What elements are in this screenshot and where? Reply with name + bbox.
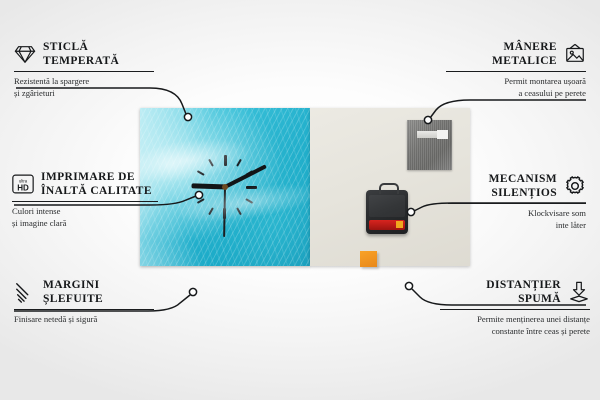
- clock-tick: [224, 155, 226, 219]
- clock-tick: [197, 170, 253, 204]
- feature-margini-slefuite: MARGINIȘLEFUITE Finisare netedă și sigur…: [14, 278, 154, 326]
- clock-tick: [224, 155, 226, 219]
- clock-hour-hand: [191, 183, 225, 189]
- feature-title: DISTANȚIERSPUMĂ: [486, 278, 561, 306]
- gear-icon: [564, 175, 586, 197]
- orange-foam-spacer: [360, 251, 377, 267]
- feature-title: IMPRIMARE DEÎNALTĂ CALITATE: [41, 170, 152, 198]
- feature-description: Rezistentă la spargereși zgârieturi: [14, 76, 154, 99]
- feature-title: MÂNEREMETALICE: [492, 40, 557, 68]
- feature-imprimare-hd: ultra HD IMPRIMARE DEÎNALTĂ CALITATE Cul…: [12, 170, 158, 229]
- clock-dial: [140, 108, 310, 266]
- metal-hanger-swatch: [407, 120, 452, 170]
- feature-description: Permit montarea ușoarăa ceasului pe pere…: [446, 76, 586, 99]
- feature-title: MARGINIȘLEFUITE: [43, 278, 103, 306]
- feature-manere-metalice: MÂNEREMETALICE Permit montarea ușoarăa c…: [446, 40, 586, 99]
- clock-tick: [197, 170, 253, 204]
- clock-tick: [208, 159, 242, 215]
- feature-description: Culori intenseși imagine clară: [12, 206, 158, 229]
- feature-sticla-temperata: STICLĂTEMPERATĂ Rezistentă la spargereși…: [14, 40, 154, 99]
- polished-edges-icon: [14, 281, 36, 303]
- infographic-canvas: STICLĂTEMPERATĂ Rezistentă la spargereși…: [0, 0, 600, 400]
- clock-face-feather-print: [140, 108, 310, 266]
- feature-title: STICLĂTEMPERATĂ: [43, 40, 119, 68]
- clock-tick: [208, 159, 242, 215]
- ultra-hd-icon: ultra HD: [12, 173, 34, 195]
- divider: [14, 309, 154, 310]
- foam-spacer-arrow-icon: [568, 281, 590, 303]
- clock-tick: [208, 159, 242, 215]
- clock-back-panel: [310, 108, 470, 266]
- hanger-bracket: [417, 131, 443, 138]
- clock-tick: [193, 186, 257, 188]
- feature-description: Finisare netedă și sigură: [14, 314, 154, 326]
- feature-description: Klockvisare sominte låter: [448, 208, 586, 231]
- diamond-icon: [14, 43, 36, 65]
- clock-center-cap: [222, 184, 228, 190]
- feature-title: MECANISMSILENȚIOS: [489, 172, 557, 200]
- quartz-mechanism: [366, 190, 408, 234]
- divider: [14, 71, 154, 72]
- clock-tick: [193, 186, 257, 188]
- divider: [440, 309, 590, 310]
- divider: [448, 203, 586, 204]
- feature-description: Permite menținerea unei distanțeconstant…: [440, 314, 590, 337]
- clock-tick: [197, 170, 253, 204]
- clock-tick: [208, 159, 242, 215]
- wall-frame-hanger-icon: [564, 43, 586, 65]
- feature-mecanism-silentios: MECANISMSILENȚIOS Klockvisare sominte lå…: [448, 172, 586, 231]
- mechanism-hanging-loop: [379, 183, 399, 194]
- feature-distantier-spuma: DISTANȚIERSPUMĂ Permite menținerea unei …: [440, 278, 590, 337]
- clock-second-hand: [223, 187, 226, 237]
- divider: [12, 201, 158, 202]
- clock-minute-hand: [224, 164, 267, 188]
- battery: [369, 220, 405, 230]
- mechanism-body: [369, 195, 405, 217]
- divider: [446, 71, 586, 72]
- svg-text:HD: HD: [17, 183, 29, 192]
- clock-tick: [197, 170, 253, 204]
